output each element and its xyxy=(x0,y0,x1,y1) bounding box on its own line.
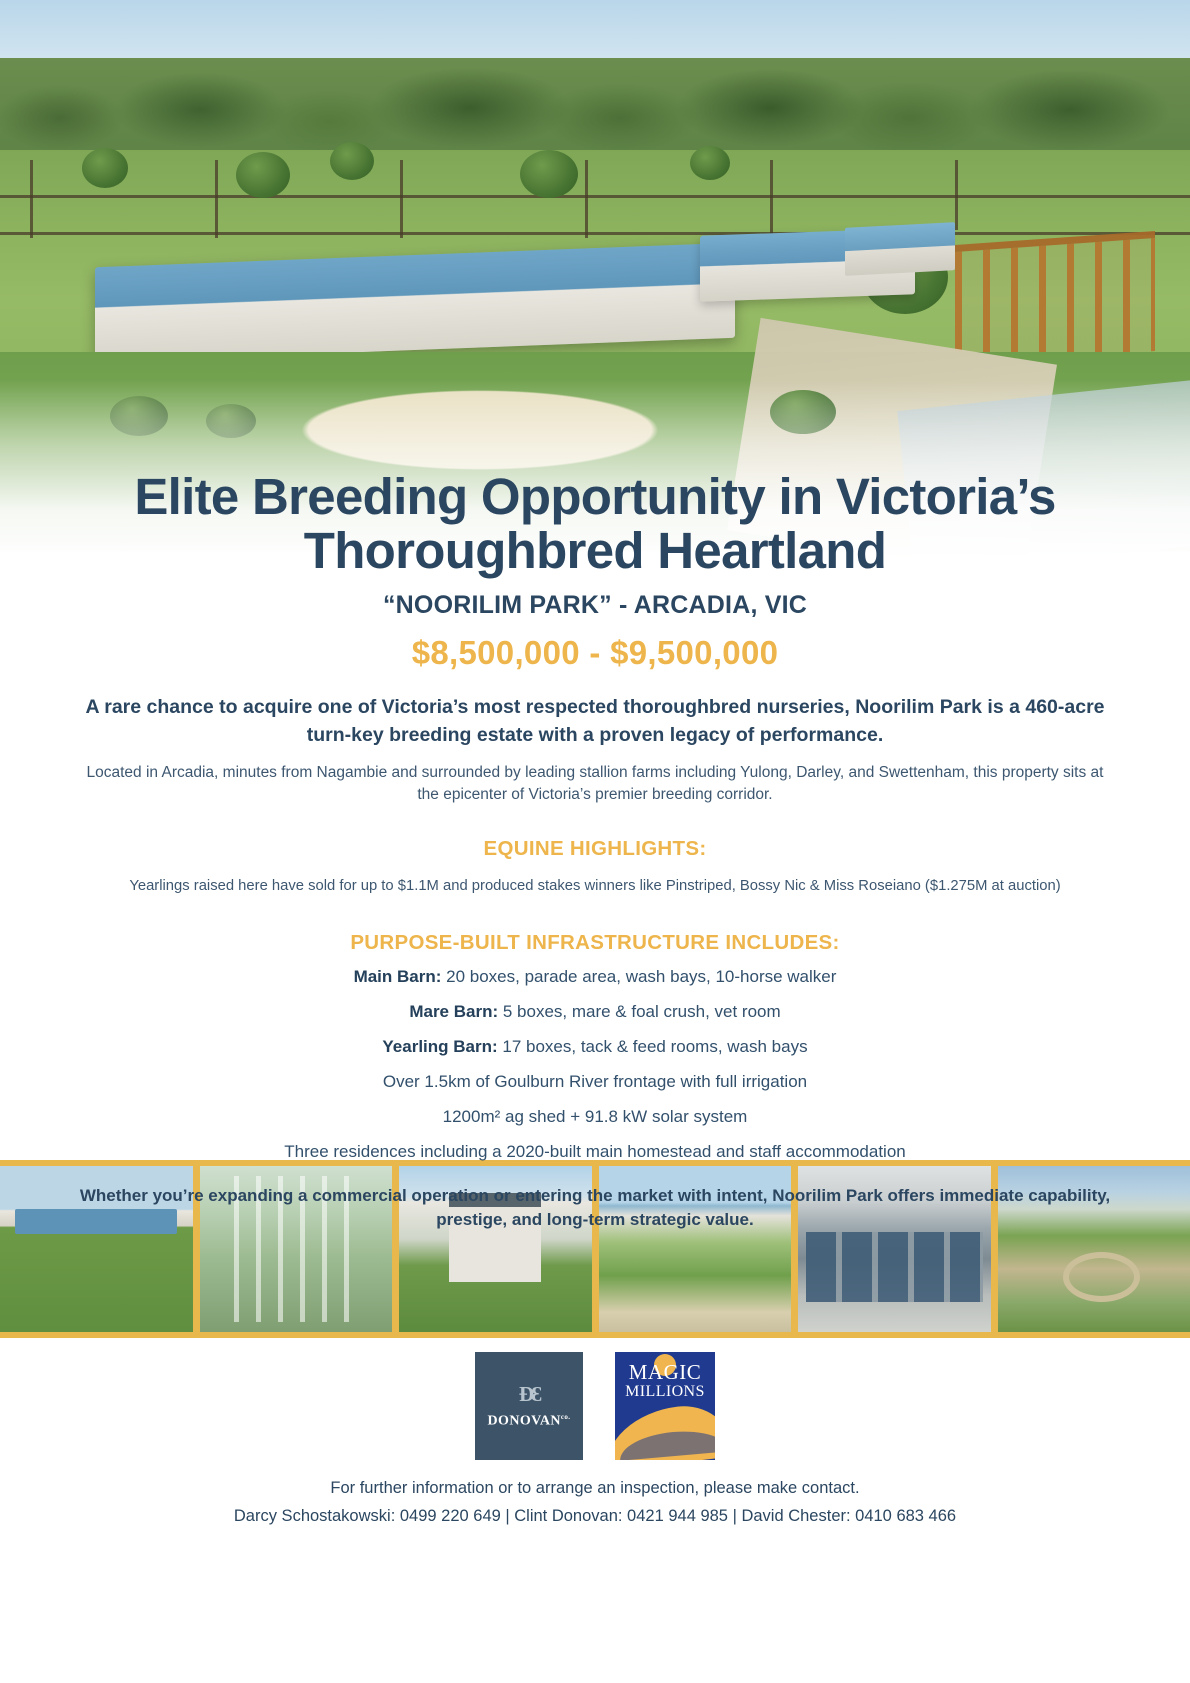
magic-wordmark-line1: MAGIC xyxy=(629,1362,702,1383)
tree xyxy=(330,142,374,180)
magic-wordmark-line2: MILLIONS xyxy=(625,1383,705,1401)
equine-highlights-text: Yearlings raised here have sold for up t… xyxy=(62,877,1128,897)
covered-walker-structure xyxy=(955,231,1155,365)
tree xyxy=(520,150,578,198)
fence-line xyxy=(0,195,1190,198)
list-item: Three residences including a 2020-built … xyxy=(62,1143,1128,1160)
horse-walker-ring xyxy=(1063,1252,1140,1302)
infrastructure-heading: PURPOSE-BUILT INFRASTRUCTURE INCLUDES: xyxy=(62,931,1128,955)
fence-post xyxy=(770,160,773,234)
fence-post xyxy=(400,160,403,238)
closing-statement: Whether you’re expanding a commercial op… xyxy=(62,1184,1128,1232)
fence-post xyxy=(585,160,588,238)
page-title: Elite Breeding Opportunity in Victoria’s… xyxy=(62,470,1128,577)
list-item-label: Mare Barn: xyxy=(409,1002,498,1021)
list-item-label: Main Barn: xyxy=(354,967,442,986)
fence-post xyxy=(215,160,218,238)
contact-footer: For further information or to arrange an… xyxy=(0,1475,1190,1530)
list-item: Mare Barn: 5 boxes, mare & foal crush, v… xyxy=(62,1003,1128,1020)
donovan-name-text: DONOVAN xyxy=(488,1414,561,1429)
stall-partitions xyxy=(806,1232,983,1302)
donovan-suffix-text: co. xyxy=(561,1413,571,1421)
donovan-wordmark: DONOVANco. xyxy=(488,1413,571,1430)
list-item: 1200m² ag shed + 91.8 kW solar system xyxy=(62,1108,1128,1125)
price-range: $8,500,000 - $9,500,000 xyxy=(62,634,1128,672)
list-item-label: Yearling Barn: xyxy=(382,1037,497,1056)
location-paragraph: Located in Arcadia, minutes from Nagambi… xyxy=(62,762,1128,805)
fence-line xyxy=(0,232,1190,235)
tree xyxy=(690,146,730,180)
listing-content: Elite Breeding Opportunity in Victoria’s… xyxy=(0,470,1190,1232)
list-item-text: 17 boxes, tack & feed rooms, wash bays xyxy=(498,1037,808,1056)
fence-post xyxy=(955,160,958,230)
magic-millions-logo[interactable]: MAGIC MILLIONS xyxy=(615,1352,715,1460)
infrastructure-list: Main Barn: 20 boxes, parade area, wash b… xyxy=(62,968,1128,1160)
agency-logos: ĐƐ DONOVANco. MAGIC MILLIONS xyxy=(0,1352,1190,1460)
contact-instruction: For further information or to arrange an… xyxy=(0,1475,1190,1501)
lead-paragraph: A rare chance to acquire one of Victoria… xyxy=(62,694,1128,749)
list-item-text: 1200m² ag shed + 91.8 kW solar system xyxy=(443,1107,748,1126)
list-item: Main Barn: 20 boxes, parade area, wash b… xyxy=(62,968,1128,985)
tree xyxy=(82,148,128,188)
equine-highlights-heading: EQUINE HIGHLIGHTS: xyxy=(62,837,1128,861)
list-item-text: Over 1.5km of Goulburn River frontage wi… xyxy=(383,1072,807,1091)
fence-post xyxy=(30,160,33,238)
property-name-location: “NOORILIM PARK” - ARCADIA, VIC xyxy=(62,591,1128,620)
list-item-text: Three residences including a 2020-built … xyxy=(284,1142,906,1161)
donovan-co-logo[interactable]: ĐƐ DONOVANco. xyxy=(475,1352,583,1460)
shed-building xyxy=(845,222,955,276)
tree xyxy=(236,152,290,198)
donovan-monogram-icon: ĐƐ xyxy=(519,1382,539,1407)
list-item-text: 5 boxes, mare & foal crush, vet room xyxy=(498,1002,781,1021)
list-item: Yearling Barn: 17 boxes, tack & feed roo… xyxy=(62,1038,1128,1055)
list-item-text: 20 boxes, parade area, wash bays, 10-hor… xyxy=(441,967,836,986)
list-item: Over 1.5km of Goulburn River frontage wi… xyxy=(62,1073,1128,1090)
contact-details: Darcy Schostakowski: 0499 220 649 | Clin… xyxy=(0,1503,1190,1529)
